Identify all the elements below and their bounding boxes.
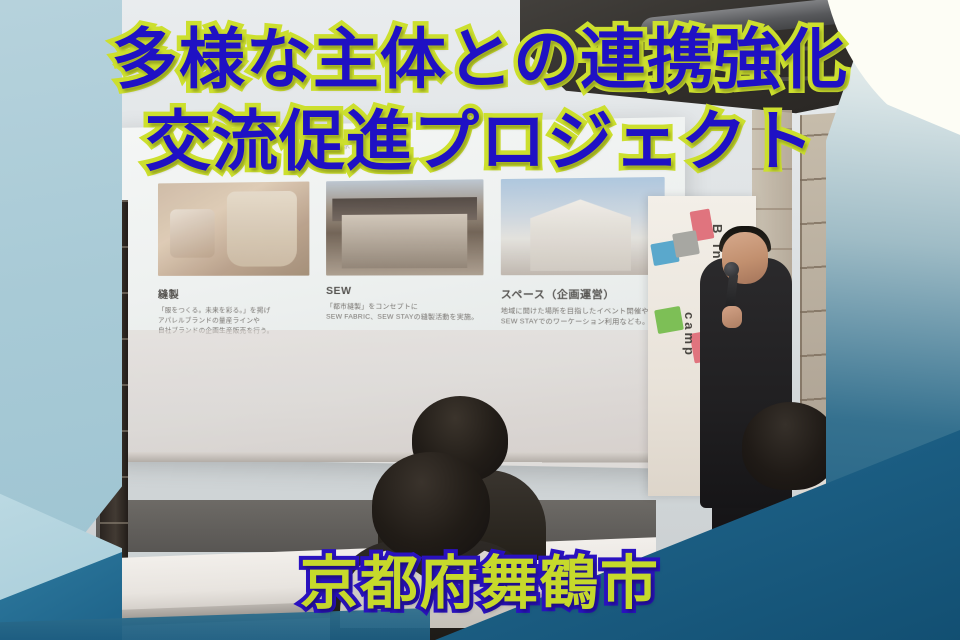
slide-photo-building xyxy=(501,177,665,275)
microphone-head xyxy=(724,262,739,277)
slide-column-heading: SEW xyxy=(326,286,483,297)
slide-column-body: 「都市縫製」をコンセプトに SEW FABRIC、SEW STAYの縫製活動を実… xyxy=(326,302,483,323)
scaffold-column xyxy=(100,200,128,570)
banner-square xyxy=(654,306,684,334)
slide-column: SEW 「都市縫製」をコンセプトに SEW FABRIC、SEW STAYの縫製… xyxy=(326,179,483,338)
slide-column: 縫製 「服をつくる。未来を彩る。」を掲げ アパレルブランドの量産ラインや 自社ブ… xyxy=(158,181,309,337)
slide-column-body: 地域に開けた場所を目指したイベント開催や、 SEW STAYでのワーケーション利… xyxy=(501,307,665,329)
slide-columns: 縫製 「服をつくる。未来を彩る。」を掲げ アパレルブランドの量産ラインや 自社ブ… xyxy=(158,177,660,339)
wall-sign xyxy=(808,548,870,560)
banner-square xyxy=(672,230,700,258)
wall-lattice xyxy=(800,105,950,445)
slide-column-heading: 縫製 xyxy=(158,286,309,301)
slide-photo-machiya xyxy=(326,179,483,275)
venue-photograph: 体像 縫製 「服をつくる。未来を彩る。」を掲げ アパレルブランドの量産ラインや … xyxy=(0,0,960,640)
wall-knob xyxy=(848,500,870,522)
speaker-hand xyxy=(722,306,742,328)
slide-photo-sewing xyxy=(158,181,309,275)
slide-column-heading: スペース（企画運営） xyxy=(501,286,665,302)
slide-faint-header: 体像 xyxy=(328,136,351,152)
presentation-thumbnail: 体像 縫製 「服をつくる。未来を彩る。」を掲げ アパレルブランドの量産ラインや … xyxy=(0,0,960,640)
banner-text-camp: camp xyxy=(682,312,697,358)
screen-lower-wall xyxy=(118,330,653,458)
audience-head xyxy=(742,402,838,490)
audience-head xyxy=(372,452,490,560)
slide-column: スペース（企画運営） 地域に開けた場所を目指したイベント開催や、 SEW STA… xyxy=(501,177,665,339)
